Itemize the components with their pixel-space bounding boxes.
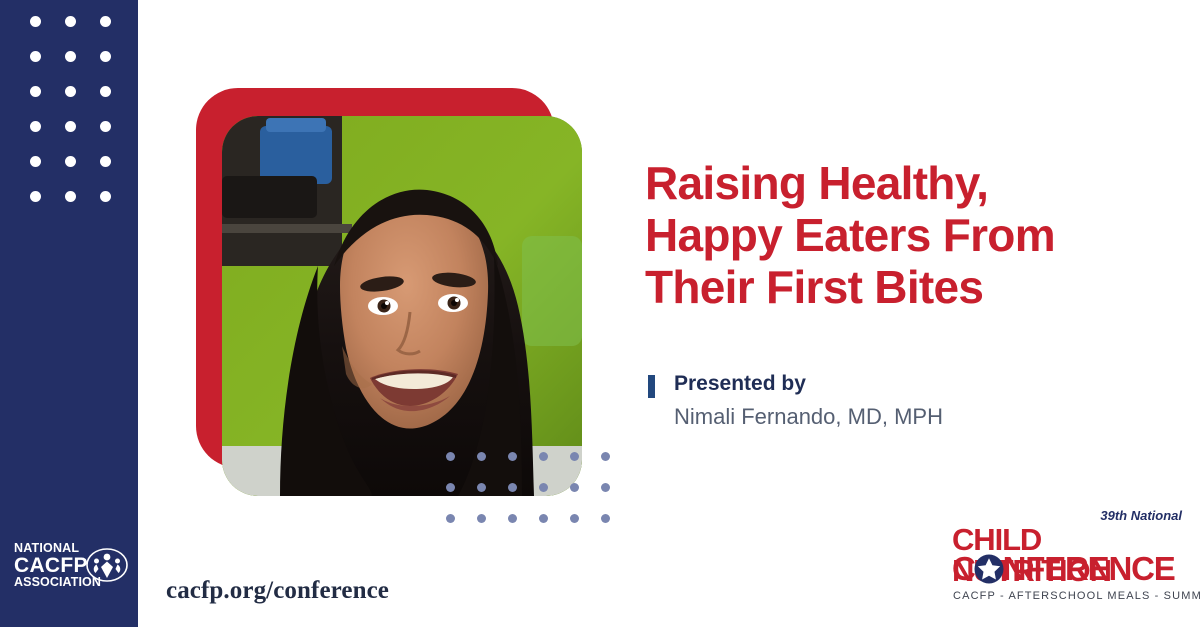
accent-dot xyxy=(508,483,517,492)
conference-url[interactable]: cacfp.org/conference xyxy=(166,577,389,605)
sidebar-dot xyxy=(65,121,76,132)
accent-dot xyxy=(570,483,579,492)
sidebar-dot xyxy=(65,51,76,62)
sidebar-dot xyxy=(65,156,76,167)
sidebar-dot xyxy=(65,16,76,27)
accent-dot xyxy=(539,483,548,492)
accent-dot xyxy=(570,452,579,461)
sidebar-dot xyxy=(30,121,41,132)
sidebar-dot xyxy=(30,156,41,167)
conference-logo-line2: CNFERENCE xyxy=(952,553,1175,585)
sidebar-dot xyxy=(100,86,111,97)
cacfp-people-emblem xyxy=(86,548,128,582)
page-title: Raising Healthy, Happy Eaters From Their… xyxy=(645,158,1155,314)
presenter-accent-bar xyxy=(648,375,655,398)
presented-by-label: Presented by xyxy=(674,372,806,396)
sidebar-dot xyxy=(100,16,111,27)
sidebar-dot xyxy=(30,86,41,97)
title-line-2: Happy Eaters From xyxy=(645,210,1155,262)
accent-dot xyxy=(508,452,517,461)
speaker-photo xyxy=(222,116,582,496)
sidebar-dot xyxy=(100,121,111,132)
sidebar-dot xyxy=(30,16,41,27)
accent-dot xyxy=(508,514,517,523)
sidebar-dot xyxy=(65,191,76,202)
cacfp-association-logo: NATIONAL CACFP ASSOCIATION xyxy=(14,540,126,602)
star-icon xyxy=(974,554,1004,584)
sidebar-panel xyxy=(0,0,138,627)
sidebar-dot xyxy=(30,191,41,202)
accent-dot xyxy=(477,452,486,461)
conference-logo-line2-pre: C xyxy=(952,550,975,587)
title-line-3: Their First Bites xyxy=(645,262,1155,314)
presentation-slide: NATIONAL CACFP ASSOCIATION cacfp.org/con… xyxy=(0,0,1200,627)
dot-grid-pattern xyxy=(30,16,120,206)
accent-dot xyxy=(539,514,548,523)
accent-dot xyxy=(601,452,610,461)
conference-tagline: CACFP - AFTERSCHOOL MEALS - SUMMER FOOD xyxy=(953,590,1200,602)
cacfp-logo-line3: ASSOCIATION xyxy=(14,576,92,589)
cacfp-logo-line1: NATIONAL xyxy=(14,542,92,555)
accent-dot xyxy=(446,483,455,492)
presenter-name: Nimali Fernando, MD, MPH xyxy=(674,404,943,430)
sidebar-dot xyxy=(100,156,111,167)
conference-logo: 39th National CHILD NUTRITION CNFERENCE … xyxy=(952,508,1184,606)
sidebar-dot xyxy=(100,51,111,62)
accent-dot xyxy=(477,514,486,523)
accent-dot xyxy=(601,514,610,523)
sidebar-dot xyxy=(65,86,76,97)
accent-dot xyxy=(446,452,455,461)
accent-dot xyxy=(477,483,486,492)
conference-edition-label: 39th National xyxy=(1100,508,1182,523)
accent-dot-grid xyxy=(446,452,616,538)
accent-dot xyxy=(539,452,548,461)
cacfp-logo-line2: CACFP xyxy=(14,555,92,576)
accent-dot xyxy=(601,483,610,492)
cacfp-logo-text: NATIONAL CACFP ASSOCIATION xyxy=(14,542,92,589)
title-line-1: Raising Healthy, xyxy=(645,158,1155,210)
sidebar-dot xyxy=(100,191,111,202)
accent-dot xyxy=(446,514,455,523)
conference-logo-line2-post: NFERENCE xyxy=(1003,550,1175,587)
sidebar-dot xyxy=(30,51,41,62)
accent-dot xyxy=(570,514,579,523)
